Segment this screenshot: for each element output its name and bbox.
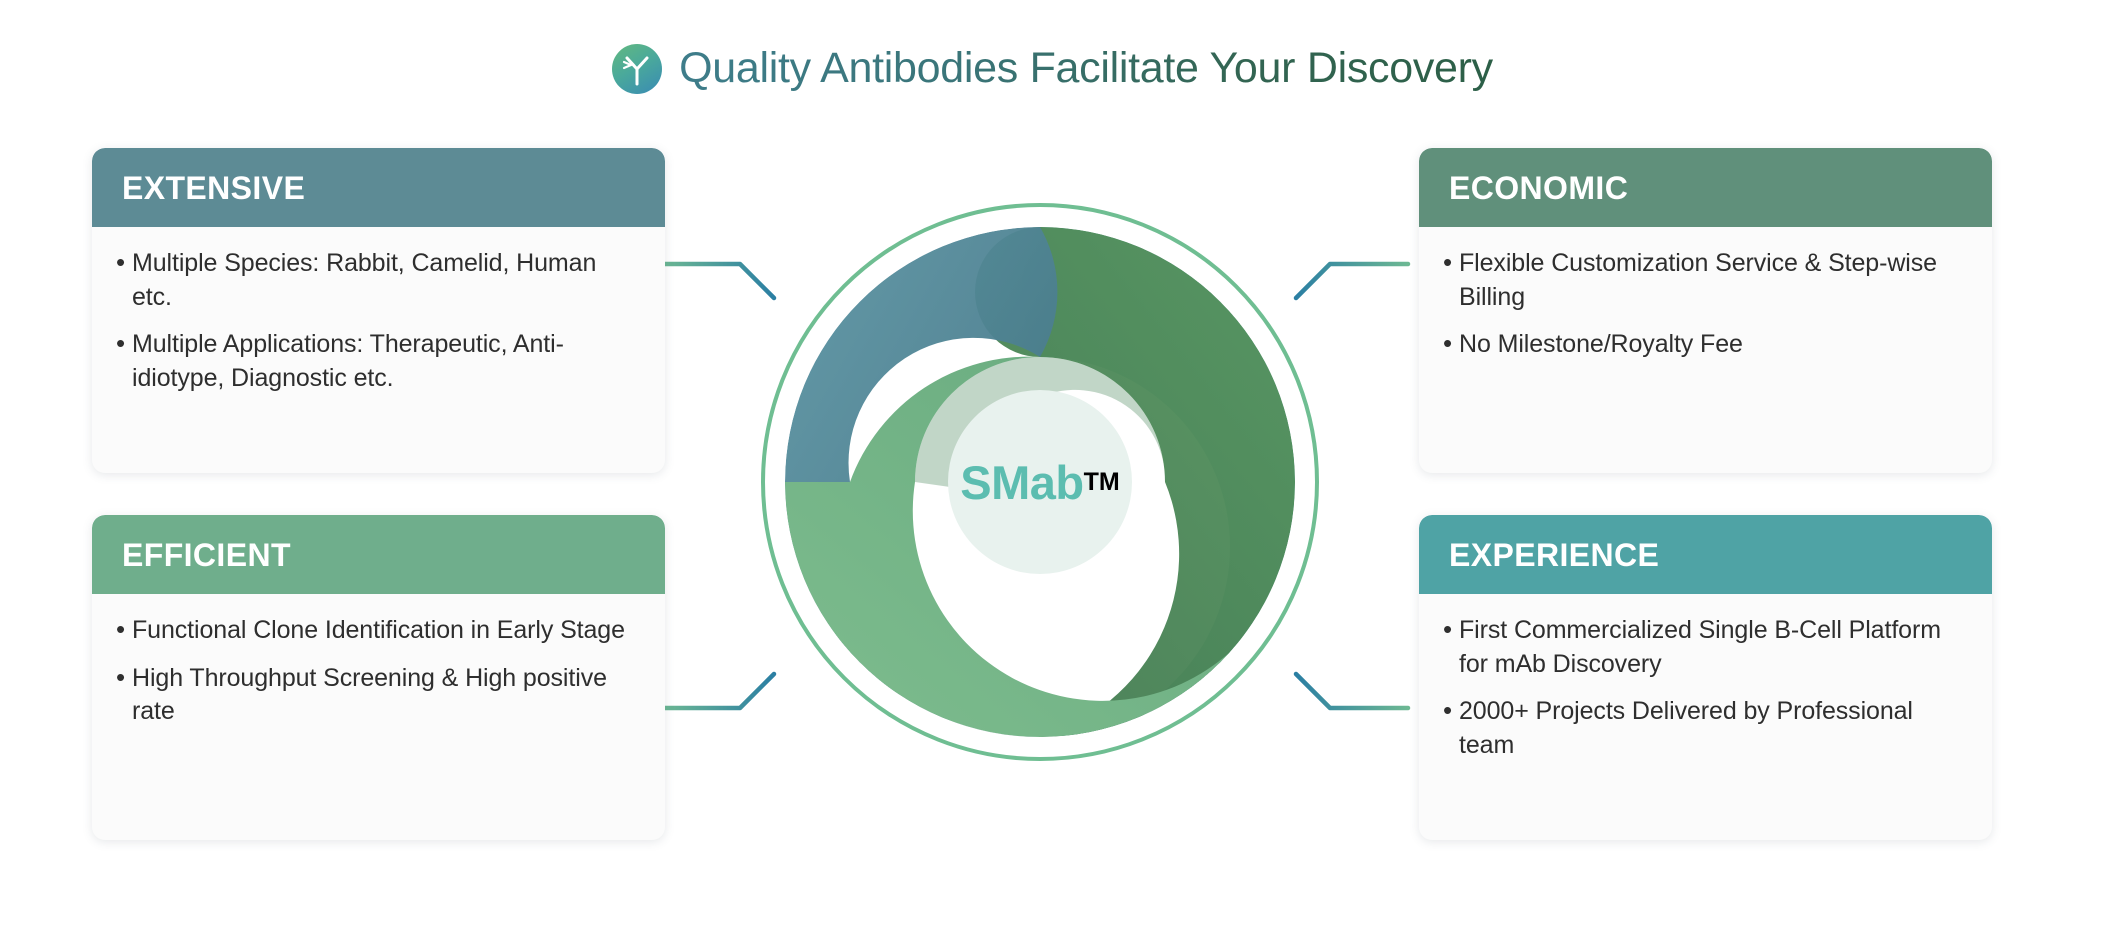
bullet-text: Functional Clone Identification in Early…	[132, 614, 625, 648]
card-header-economic: ECONOMIC	[1419, 148, 1992, 227]
bullet-dot-icon: •	[1443, 328, 1459, 358]
list-item: • Multiple Species: Rabbit, Camelid, Hum…	[116, 247, 639, 314]
bullet-dot-icon: •	[116, 328, 132, 358]
page-title-row: Quality Antibodies Facilitate Your Disco…	[0, 34, 2104, 104]
list-item: • Flexible Customization Service & Step-…	[1443, 247, 1966, 314]
card-body-economic: • Flexible Customization Service & Step-…	[1419, 227, 1992, 473]
list-item: • No Milestone/Royalty Fee	[1443, 328, 1966, 362]
bullet-text: High Throughput Screening & High positiv…	[132, 662, 639, 729]
list-item: • High Throughput Screening & High posit…	[116, 662, 639, 729]
bullet-dot-icon: •	[1443, 614, 1459, 644]
list-item: • Multiple Applications: Therapeutic, An…	[116, 328, 639, 395]
bullet-list-experience: • First Commercialized Single B-Cell Pla…	[1443, 614, 1966, 762]
card-experience[interactable]: EXPERIENCE • First Commercialized Single…	[1419, 515, 1992, 840]
bullet-dot-icon: •	[1443, 695, 1459, 725]
bullet-dot-icon: •	[116, 614, 132, 644]
card-economic[interactable]: ECONOMIC • Flexible Customization Servic…	[1419, 148, 1992, 473]
bullet-text: Flexible Customization Service & Step-wi…	[1459, 247, 1966, 314]
card-body-efficient: • Functional Clone Identification in Ear…	[92, 594, 665, 840]
card-extensive[interactable]: EXTENSIVE • Multiple Species: Rabbit, Ca…	[92, 148, 665, 473]
antibody-icon	[611, 43, 663, 95]
list-item: • Functional Clone Identification in Ear…	[116, 614, 639, 648]
list-item: • 2000+ Projects Delivered by Profession…	[1443, 695, 1966, 762]
page-title: Quality Antibodies Facilitate Your Disco…	[679, 45, 1493, 92]
card-header-extensive: EXTENSIVE	[92, 148, 665, 227]
bullet-list-economic: • Flexible Customization Service & Step-…	[1443, 247, 1966, 362]
card-body-extensive: • Multiple Species: Rabbit, Camelid, Hum…	[92, 227, 665, 473]
bullet-dot-icon: •	[116, 247, 132, 277]
bullet-dot-icon: •	[1443, 247, 1459, 277]
card-title-experience: EXPERIENCE	[1449, 539, 1659, 571]
bullet-text: Multiple Species: Rabbit, Camelid, Human…	[132, 247, 639, 314]
bullet-text: No Milestone/Royalty Fee	[1459, 328, 1743, 362]
card-header-experience: EXPERIENCE	[1419, 515, 1992, 594]
card-title-efficient: EFFICIENT	[122, 539, 291, 571]
smab-logo: SMabTM	[740, 182, 1340, 782]
bullet-text: 2000+ Projects Delivered by Professional…	[1459, 695, 1966, 762]
card-header-efficient: EFFICIENT	[92, 515, 665, 594]
bullet-dot-icon: •	[116, 662, 132, 692]
card-body-experience: • First Commercialized Single B-Cell Pla…	[1419, 594, 1992, 840]
card-title-economic: ECONOMIC	[1449, 172, 1628, 204]
bullet-list-efficient: • Functional Clone Identification in Ear…	[116, 614, 639, 729]
list-item: • First Commercialized Single B-Cell Pla…	[1443, 614, 1966, 681]
bullet-text: First Commercialized Single B-Cell Platf…	[1459, 614, 1966, 681]
card-title-extensive: EXTENSIVE	[122, 172, 305, 204]
bullet-text: Multiple Applications: Therapeutic, Anti…	[132, 328, 639, 395]
bullet-list-extensive: • Multiple Species: Rabbit, Camelid, Hum…	[116, 247, 639, 395]
card-efficient[interactable]: EFFICIENT • Functional Clone Identificat…	[92, 515, 665, 840]
infographic-canvas: Quality Antibodies Facilitate Your Disco…	[0, 0, 2104, 951]
